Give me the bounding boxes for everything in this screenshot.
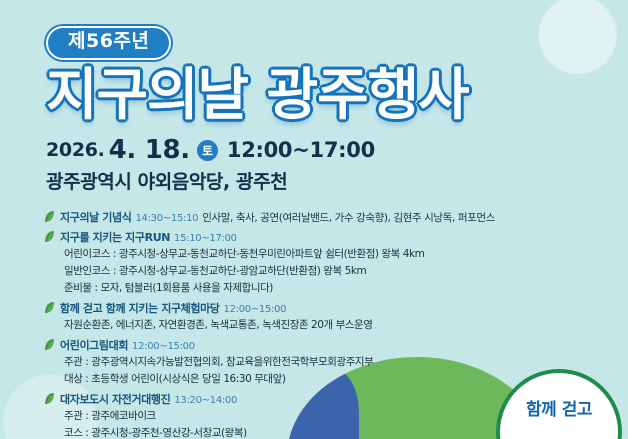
program-item-detail: 코스 : 광주시청-광주천-영산강-서창교(왕복) <box>64 425 620 439</box>
program-item: 함께 걷고 함께 지키는 지구체험마당12:00~15:00 <box>44 297 620 316</box>
program-item-text: 함께 걷고 함께 지키는 지구체험마당12:00~15:00 <box>60 297 286 316</box>
program-item: 어린이그림대회12:00~15:00 <box>44 334 620 353</box>
program-item-title: 함께 걷고 함께 지키는 지구체험마당 <box>60 302 220 315</box>
event-place: 광주광역시 야외음악당, 광주천 <box>46 167 606 194</box>
program-item-title: 어린이그림대회 <box>60 339 128 352</box>
program-item-title: 지구를 지키는 지구RUN <box>60 231 170 244</box>
program-item-detail: 대상 : 초등학생 어린이(시상식은 당일 16:30 무대앞) <box>64 371 620 386</box>
event-date-line: 2026. 4. 18. 토 12:00~17:00 <box>46 135 606 165</box>
program-item-time: 13:20~14:00 <box>174 395 237 406</box>
event-year: 2026. <box>46 139 105 161</box>
leaf-icon <box>44 299 55 312</box>
anniversary-badge: 제56주년 <box>46 26 171 60</box>
program-item-detail: 어린이코스 : 광주시청-상무교-동천교하단-동천우미린아파트앞 쉼터(반환점)… <box>64 246 620 261</box>
event-time: 12:00~17:00 <box>227 138 375 162</box>
program-item-text: 대자보도시 자전거대행진13:20~14:00 <box>60 388 237 407</box>
event-poster: 함께 걷고 제56주년 지구의날 광주행사 2026. 4. 18. 토 12:… <box>0 0 628 439</box>
program-list: 지구의날 기념식14:30~15:10인사말, 축사, 공연(여러날밴드, 가수… <box>44 206 620 439</box>
program-item-text: 지구의날 기념식14:30~15:10인사말, 축사, 공연(여러날밴드, 가수… <box>60 206 495 225</box>
program-item-detail: 준비물 : 모자, 텀블러(1회용품 사용을 자제합니다) <box>64 280 620 295</box>
program-item-description: 인사말, 축사, 공연(여러날밴드, 가수 강숙향), 김현주 시낭독, 퍼포먼… <box>202 212 495 224</box>
program-item-title: 지구의날 기념식 <box>60 211 131 224</box>
program-item-text: 어린이그림대회12:00~15:00 <box>60 334 195 353</box>
program-item-text: 지구를 지키는 지구RUN15:10~17:00 <box>60 226 237 245</box>
program-item-detail: 일반인코스 : 광주시청-상무교-동천교하단-광암교하단(반환점) 왕복 5km <box>64 263 620 278</box>
leaf-icon <box>44 336 55 349</box>
leaf-icon <box>44 390 55 403</box>
leaf-icon <box>44 208 55 221</box>
poster-header: 제56주년 지구의날 광주행사 2026. 4. 18. 토 12:00~17:… <box>46 26 606 194</box>
program-item-time: 14:30~15:10 <box>135 213 198 224</box>
leaf-icon <box>44 228 55 241</box>
program-item: 지구를 지키는 지구RUN15:10~17:00 <box>44 226 620 245</box>
program-item-detail: 자원순환존, 에너지존, 자연환경존, 녹색교통존, 녹색진장존 20개 부스운… <box>64 317 620 332</box>
page-title: 지구의날 광주행사 <box>46 66 606 125</box>
program-item: 지구의날 기념식14:30~15:10인사말, 축사, 공연(여러날밴드, 가수… <box>44 206 620 225</box>
program-item-detail: 주관 : 광주에코바이크 <box>64 408 620 423</box>
program-item-title: 대자보도시 자전거대행진 <box>60 393 170 406</box>
program-item-time: 12:00~15:00 <box>132 341 195 352</box>
event-month-day: 4. 18. <box>109 135 190 165</box>
program-item: 대자보도시 자전거대행진13:20~14:00 <box>44 388 620 407</box>
weekday-chip: 토 <box>197 140 218 161</box>
program-item-time: 15:10~17:00 <box>174 233 237 244</box>
program-item-time: 12:00~15:00 <box>224 304 287 315</box>
program-item-detail: 주관 : 광주광역시지속가능발전협의회, 참교육을위한전국학부모회광주지부 <box>64 354 620 369</box>
